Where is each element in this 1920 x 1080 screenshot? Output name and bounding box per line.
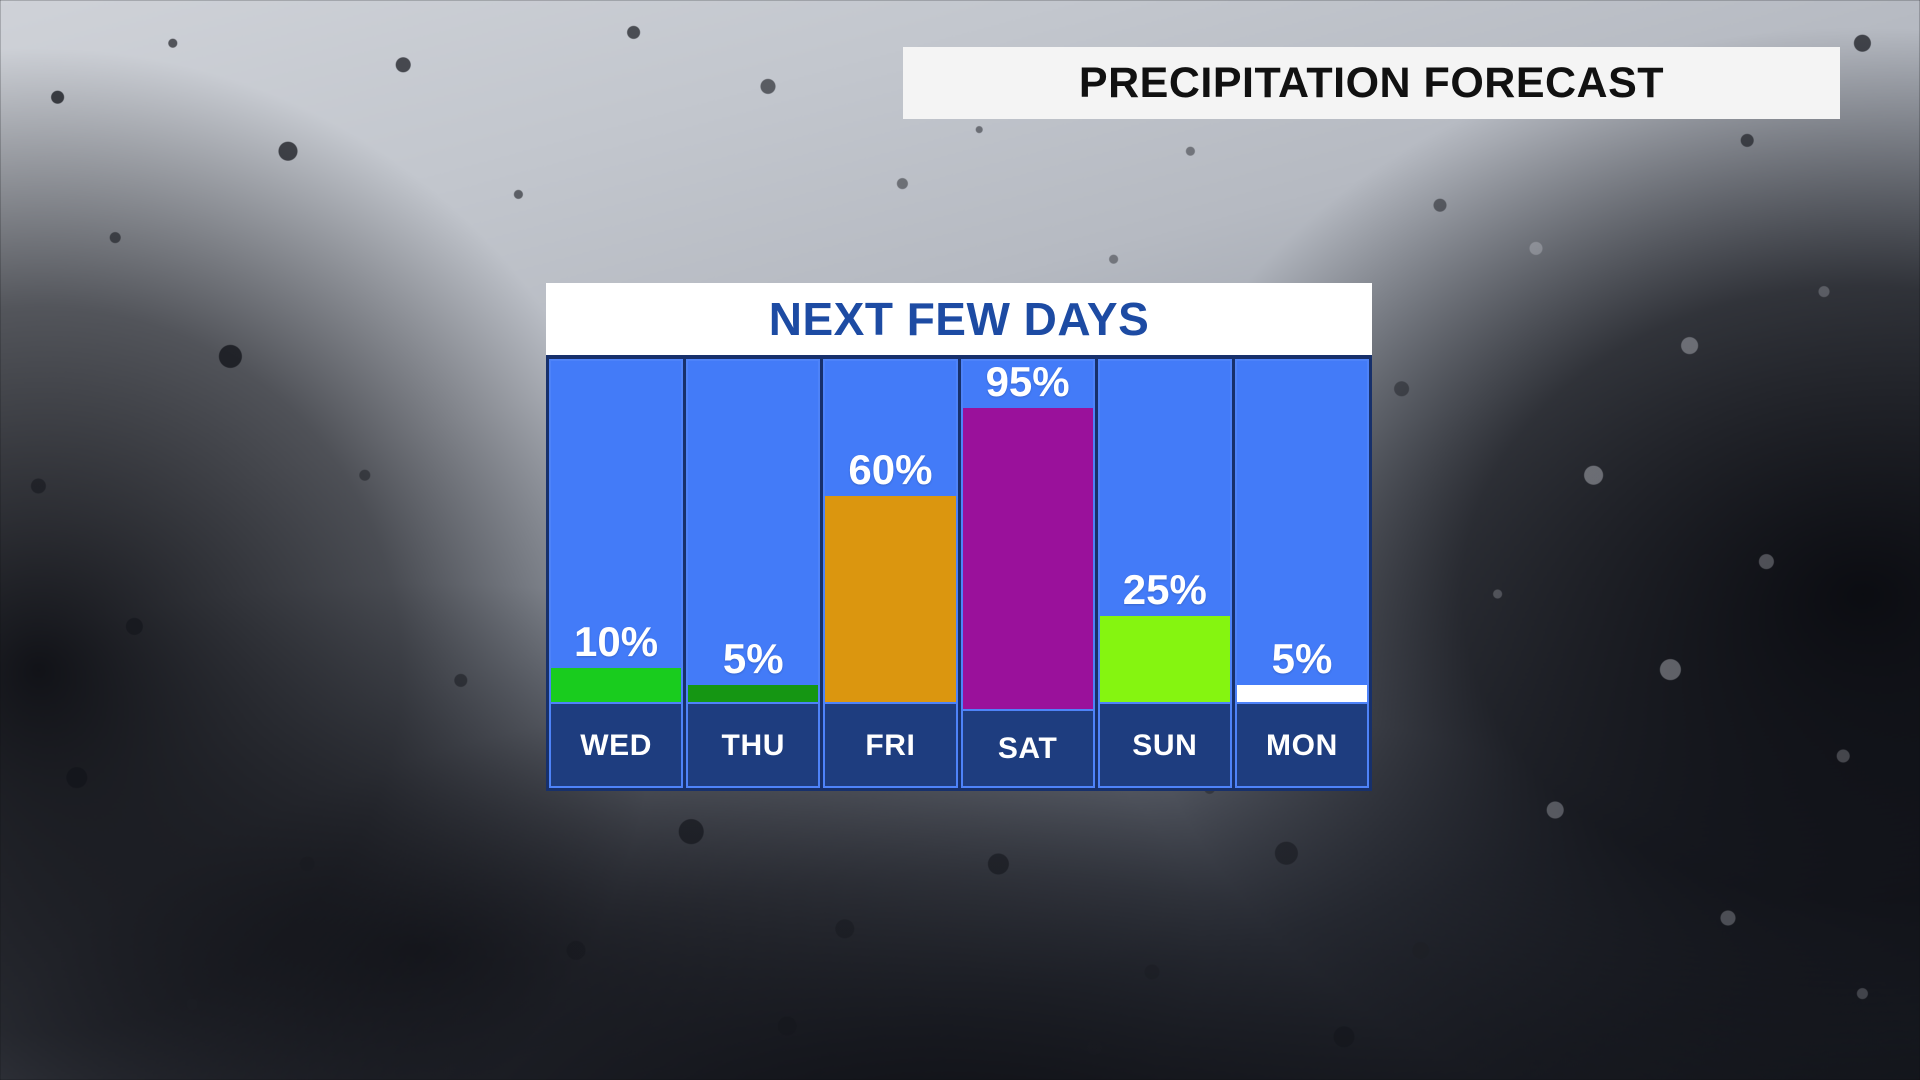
page-title: NEXT FEW DAYS bbox=[769, 292, 1150, 346]
forecast-panel: NEXT FEW DAYS 10%WED5%THU60%FRI95%SAT25%… bbox=[546, 283, 1372, 791]
day-name: SAT bbox=[998, 732, 1058, 766]
day-name: MON bbox=[1266, 729, 1338, 763]
panel-title-bar: NEXT FEW DAYS bbox=[546, 283, 1372, 355]
precip-bar-fill bbox=[1100, 616, 1230, 702]
precip-bar-fill bbox=[688, 685, 818, 702]
precip-percent-label: 60% bbox=[825, 449, 955, 496]
forecast-day-column[interactable]: 25%SUN bbox=[1098, 359, 1232, 788]
forecast-columns: 10%WED5%THU60%FRI95%SAT25%SUN5%MON bbox=[546, 355, 1372, 791]
day-label-footer: FRI bbox=[823, 702, 957, 788]
day-label-footer: SAT bbox=[961, 709, 1095, 788]
precip-percent-label: 25% bbox=[1100, 569, 1230, 616]
header-title: PRECIPITATION FORECAST bbox=[1079, 59, 1664, 108]
precip-bar-fill bbox=[963, 408, 1093, 709]
precip-percent-label: 95% bbox=[963, 361, 1093, 408]
precip-bar-fill bbox=[551, 668, 681, 702]
day-label-footer: MON bbox=[1235, 702, 1369, 788]
forecast-day-column[interactable]: 5%MON bbox=[1235, 359, 1369, 788]
precip-bar-fill bbox=[825, 496, 955, 702]
forecast-day-column[interactable]: 60%FRI bbox=[823, 359, 957, 788]
day-label-footer: THU bbox=[686, 702, 820, 788]
day-label-footer: SUN bbox=[1098, 702, 1232, 788]
forecast-day-column[interactable]: 5%THU bbox=[686, 359, 820, 788]
day-name: FRI bbox=[865, 729, 915, 763]
weather-graphic-stage: PRECIPITATION FORECAST NEXT FEW DAYS 10%… bbox=[0, 0, 1920, 1080]
precip-bar-fill bbox=[1237, 685, 1367, 702]
day-label-footer: WED bbox=[549, 702, 683, 788]
precip-percent-label: 5% bbox=[688, 638, 818, 685]
day-name: THU bbox=[722, 729, 785, 763]
header-banner: PRECIPITATION FORECAST bbox=[903, 47, 1840, 119]
day-name: WED bbox=[580, 729, 652, 763]
day-name: SUN bbox=[1132, 729, 1197, 763]
precip-percent-label: 5% bbox=[1237, 638, 1367, 685]
forecast-day-column[interactable]: 95%SAT bbox=[961, 359, 1095, 788]
precip-percent-label: 10% bbox=[551, 621, 681, 668]
forecast-day-column[interactable]: 10%WED bbox=[549, 359, 683, 788]
